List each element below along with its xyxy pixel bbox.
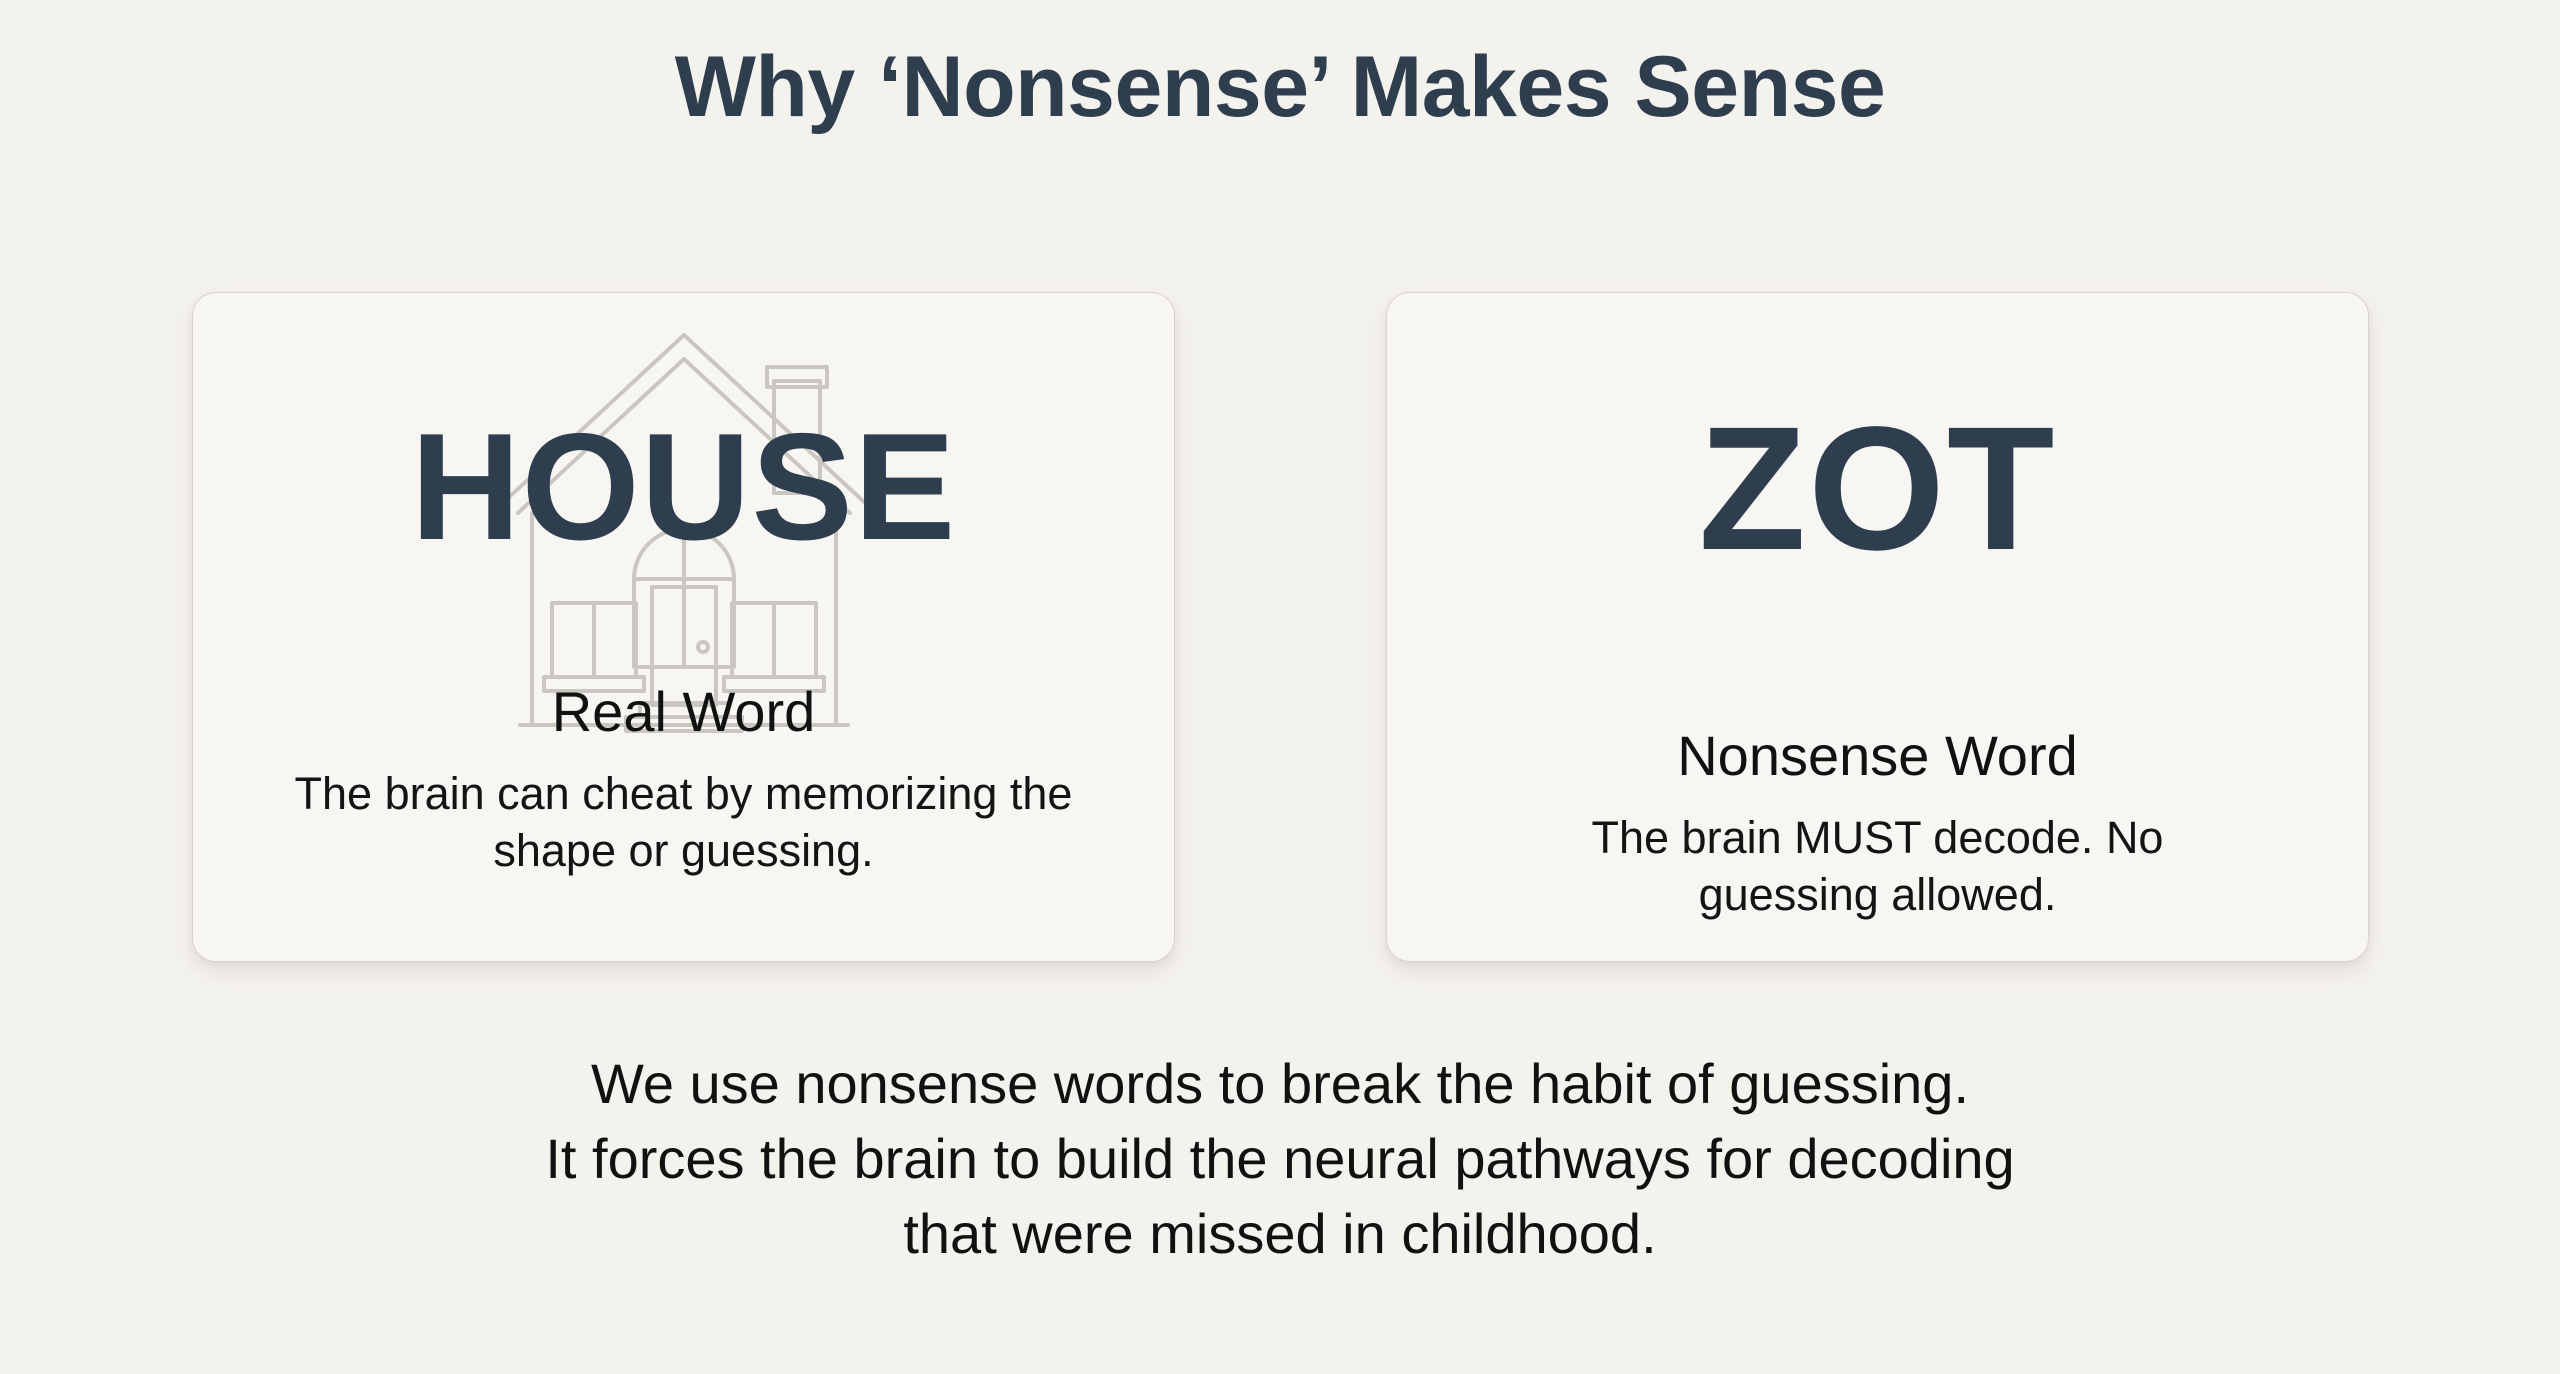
page-title: Why ‘Nonsense’ Makes Sense — [0, 38, 2560, 137]
card-real-word: HOUSE Real Word The brain can cheat by m… — [192, 292, 1175, 962]
slide-root: Why ‘Nonsense’ Makes Sense — [0, 0, 2560, 1374]
footer-line-3: that were missed in childhood. — [0, 1196, 2560, 1271]
footer-explanation: We use nonsense words to break the habit… — [0, 1046, 2560, 1271]
card-word-zot: ZOT — [1699, 401, 2057, 577]
footer-line-2: It forces the brain to build the neural … — [0, 1121, 2560, 1196]
card-nonsense-word: ZOT Nonsense Word The brain MUST decode.… — [1386, 292, 2369, 962]
card-word-house: HOUSE — [411, 411, 957, 563]
card-label-real-word: Real Word — [552, 681, 816, 743]
card-description-real-word: The brain can cheat by memorizing the sh… — [284, 765, 1084, 880]
footer-line-1: We use nonsense words to break the habit… — [0, 1046, 2560, 1121]
card-label-nonsense-word: Nonsense Word — [1677, 725, 2078, 787]
card-description-nonsense-word: The brain MUST decode. No guessing allow… — [1558, 809, 2198, 924]
